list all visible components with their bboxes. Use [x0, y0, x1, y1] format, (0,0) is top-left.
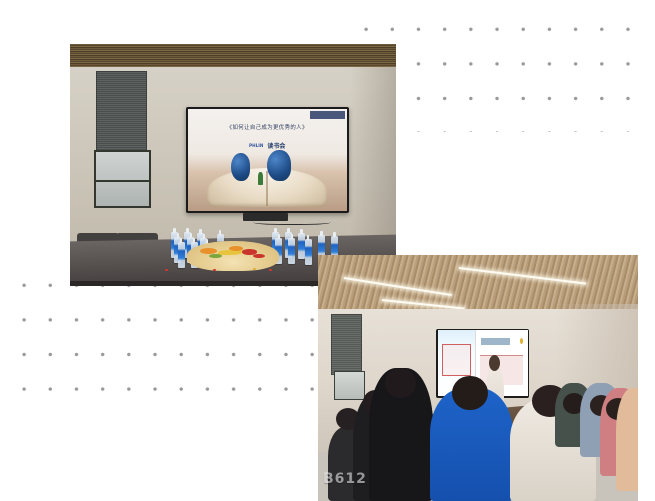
- fruit-orange: [229, 246, 243, 251]
- dot-grid-top-right-decoration: [353, 12, 643, 132]
- slide-title-text: 《如何让自己成为更优秀的人》: [188, 123, 347, 131]
- audience-session-scene: B612: [318, 255, 638, 501]
- open-book-graphic: [207, 168, 328, 207]
- globe-left-graphic: [231, 153, 250, 181]
- candy: [165, 269, 168, 271]
- photo-meeting-room-empty[interactable]: 《如何让自己成为更优秀的人》 PHLIN 读书会: [70, 44, 396, 286]
- candy: [253, 268, 256, 270]
- globe-right-graphic: [267, 150, 291, 181]
- meeting-room-scene: 《如何让自己成为更优秀的人》 PHLIN 读书会: [70, 44, 396, 286]
- window-frame: [334, 371, 365, 400]
- photo-audience-session[interactable]: B612 Meeting room during a session: a pr…: [318, 255, 638, 501]
- audience-person: [616, 388, 638, 491]
- wood-slat-ceiling: [70, 44, 396, 67]
- tv-screen: 《如何让自己成为更优秀的人》 PHLIN 读书会: [188, 109, 347, 211]
- water-bottle: [288, 238, 295, 264]
- fruit-apple: [253, 254, 265, 258]
- water-bottle: [178, 242, 185, 268]
- window-blind: [96, 71, 147, 158]
- window-blind: [331, 314, 362, 375]
- b612-watermark: B612: [323, 471, 367, 487]
- slide-logo-mark: PHLIN: [249, 143, 263, 148]
- slide-heading-bar: [481, 338, 510, 345]
- slide-corner-badge: [310, 111, 345, 119]
- candy: [269, 269, 272, 271]
- wall-shadow: [350, 67, 396, 241]
- slide-canvas: 《如何让自己成为更优秀的人》 PHLIN 读书会: [0, 0, 655, 501]
- slide-logo-row: PHLIN 读书会: [188, 141, 347, 150]
- sprout-graphic: [258, 172, 263, 184]
- water-bottle: [305, 239, 312, 265]
- audience-head: [385, 368, 415, 398]
- window-frame: [94, 150, 150, 207]
- slide-logo-text: 读书会: [267, 141, 285, 150]
- fruit-platter: [187, 241, 278, 271]
- fruit-green: [209, 254, 222, 258]
- fruit-banana: [218, 250, 242, 255]
- wall-mounted-tv: 《如何让自己成为更优秀的人》 PHLIN 读书会: [186, 107, 349, 213]
- presenter-head: [489, 355, 500, 371]
- dot-grid-bottom-left-decoration: [11, 268, 321, 413]
- audience-head: [452, 376, 487, 410]
- slide-accent-dot-icon: [520, 338, 523, 344]
- fruit-orange: [200, 248, 216, 254]
- slide-highlight-box: [442, 344, 471, 376]
